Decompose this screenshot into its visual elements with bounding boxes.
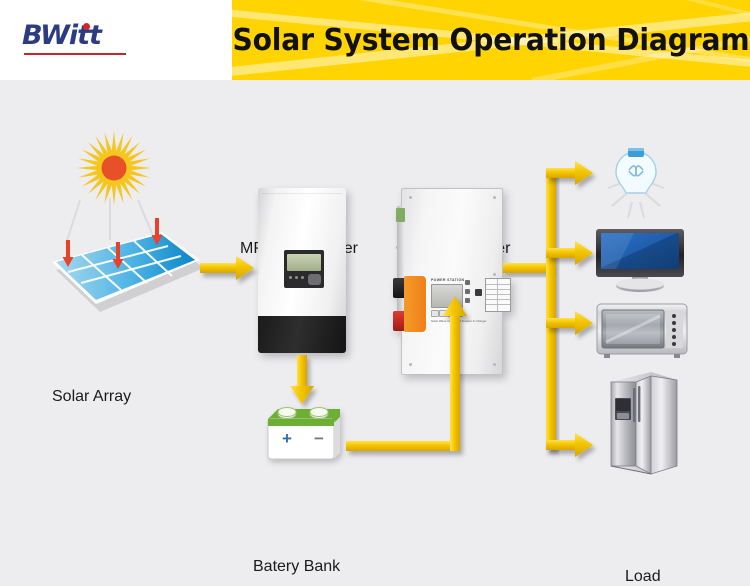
brand-logo: BWitt xyxy=(22,22,132,62)
inverter-screw-icon xyxy=(493,273,496,276)
mppt-base-housing xyxy=(258,316,346,353)
flow-inverter-to-bus xyxy=(503,263,551,273)
mppt-keypad[interactable] xyxy=(308,274,321,285)
load-bus xyxy=(546,168,556,450)
svg-text:+: + xyxy=(282,429,292,448)
flow-bus-to-tv xyxy=(546,241,593,265)
solar-panel-graphic xyxy=(38,198,208,328)
inverter-cable-boot xyxy=(404,276,426,332)
brand-logo-dot-icon xyxy=(83,23,90,30)
sun-icon xyxy=(74,128,154,208)
inverter-spec-label xyxy=(485,278,511,312)
mppt-seam xyxy=(262,193,342,194)
inverter-button[interactable] xyxy=(455,310,463,317)
mppt-display-panel xyxy=(284,250,324,288)
page-title: Solar System Operation Diagram xyxy=(248,0,735,80)
inverter-status-icon xyxy=(465,280,470,285)
svg-text:−: − xyxy=(314,429,324,448)
inverter-status-icon xyxy=(465,298,470,303)
mppt-controller-device xyxy=(258,188,346,353)
inverter-footer-text: Solar Wave Combined Inverter & Charger xyxy=(431,319,486,323)
inverter-screw-icon xyxy=(493,363,496,366)
inverter-side-rail xyxy=(397,206,404,316)
inverter-screw-icon xyxy=(493,196,496,199)
light-bulb-icon xyxy=(598,148,674,226)
inverter-spec-row xyxy=(486,289,510,290)
inverter-button[interactable] xyxy=(439,310,447,317)
inverter-spec-row xyxy=(486,294,510,295)
flow-array-to-mppt xyxy=(200,256,254,280)
inverter-brand-text: POWER STATION xyxy=(431,278,464,282)
label-battery-bank: Batery Bank xyxy=(253,558,340,576)
inverter-spec-row xyxy=(486,304,510,305)
mppt-led-icon xyxy=(301,276,304,279)
brand-logo-underline xyxy=(24,53,126,55)
diagram-canvas: Solar Array MPPT Controller Off Grid Inv… xyxy=(0,80,750,570)
flow-bus-to-bulb xyxy=(546,161,593,185)
inverter-spec-row xyxy=(486,299,510,300)
microwave-icon xyxy=(596,302,688,360)
inverter-screw-icon xyxy=(409,196,412,199)
mppt-led-icon xyxy=(289,276,292,279)
inverter-lcd-screen xyxy=(431,284,463,308)
flow-mppt-to-battery xyxy=(290,355,314,404)
label-solar-array: Solar Array xyxy=(52,388,131,406)
mppt-lcd-screen xyxy=(287,254,321,271)
label-load: Load xyxy=(625,568,661,586)
refrigerator-icon xyxy=(607,370,679,480)
off-grid-inverter-device: POWER STATION Solar Wave Combined Invert… xyxy=(393,188,501,373)
inverter-button[interactable] xyxy=(431,310,439,317)
inverter-ground-terminal xyxy=(396,208,405,222)
inverter-screw-icon xyxy=(409,363,412,366)
inverter-status-icon xyxy=(465,289,470,294)
flow-bus-to-fridge xyxy=(546,433,593,457)
battery-bank-graphic: + − xyxy=(262,403,346,465)
television-icon xyxy=(594,228,686,294)
inverter-spec-row xyxy=(486,284,510,285)
page-header: BWitt Solar System Operation Diagram xyxy=(0,0,750,80)
inverter-button[interactable] xyxy=(447,310,455,317)
mppt-led-icon xyxy=(295,276,298,279)
inverter-status-icons xyxy=(465,280,483,310)
flow-bus-to-microwave xyxy=(546,311,593,335)
brand-logo-text: BWitt xyxy=(22,22,132,49)
title-banner: Solar System Operation Diagram xyxy=(232,0,750,80)
inverter-status-icon xyxy=(475,289,482,296)
